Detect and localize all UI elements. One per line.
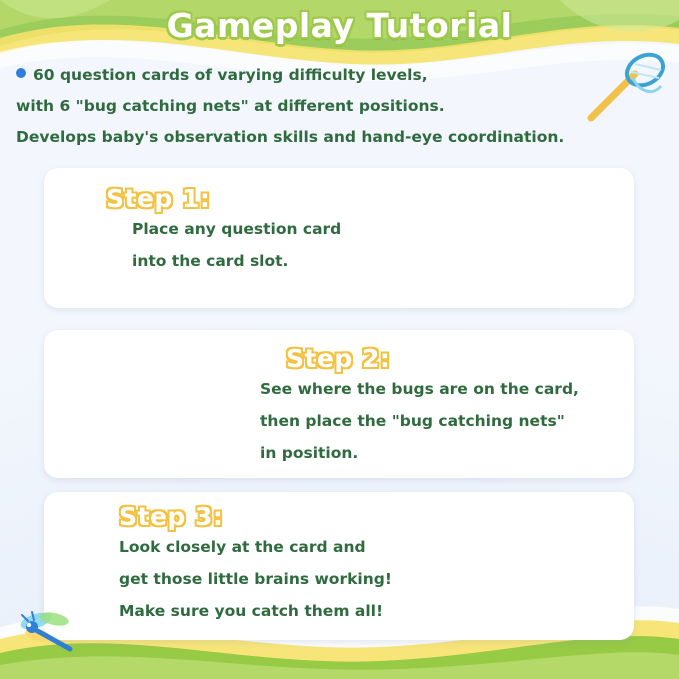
- intro-block: 60 question cards of varying difficulty …: [16, 60, 666, 153]
- step-card-1: Step 1: Place any question card into the…: [44, 168, 634, 308]
- bug-catching-net-icon: [587, 52, 673, 124]
- step-3-heading: Step 3:: [119, 502, 519, 531]
- step-1-text: Step 1: Place any question card into the…: [106, 184, 426, 277]
- dragonfly-icon: [14, 605, 94, 661]
- step-1-heading: Step 1:: [106, 184, 426, 213]
- step-1-line-1: Place any question card: [132, 213, 426, 245]
- step-3-line-1: Look closely at the card and: [119, 531, 519, 563]
- step-3-line-3: Make sure you catch them all!: [119, 595, 519, 627]
- page-title: Gameplay Tutorial: [0, 6, 679, 45]
- step-3-line-2: get those little brains working!: [119, 563, 519, 595]
- step-1-line-2: into the card slot.: [132, 245, 426, 277]
- step-2-line-2: then place the "bug catching nets": [260, 405, 626, 437]
- intro-line-1: 60 question cards of varying difficulty …: [16, 60, 666, 91]
- step-card-2: Step 2: See where the bugs are on the ca…: [44, 330, 634, 478]
- step-card-3: Step 3: Look closely at the card and get…: [44, 492, 634, 640]
- intro-line-2: with 6 "bug catching nets" at different …: [16, 91, 666, 122]
- step-2-line-1: See where the bugs are on the card,: [260, 373, 626, 405]
- step-2-line-3: in position.: [260, 437, 626, 469]
- tutorial-page: Gameplay Tutorial 60 question cards of v…: [0, 0, 679, 679]
- intro-line-3: Develops baby's observation skills and h…: [16, 122, 666, 153]
- step-2-heading: Step 2:: [286, 344, 626, 373]
- step-2-text: Step 2: See where the bugs are on the ca…: [246, 344, 626, 469]
- bullet-icon: [16, 68, 26, 78]
- step-3-text: Step 3: Look closely at the card and get…: [119, 502, 519, 627]
